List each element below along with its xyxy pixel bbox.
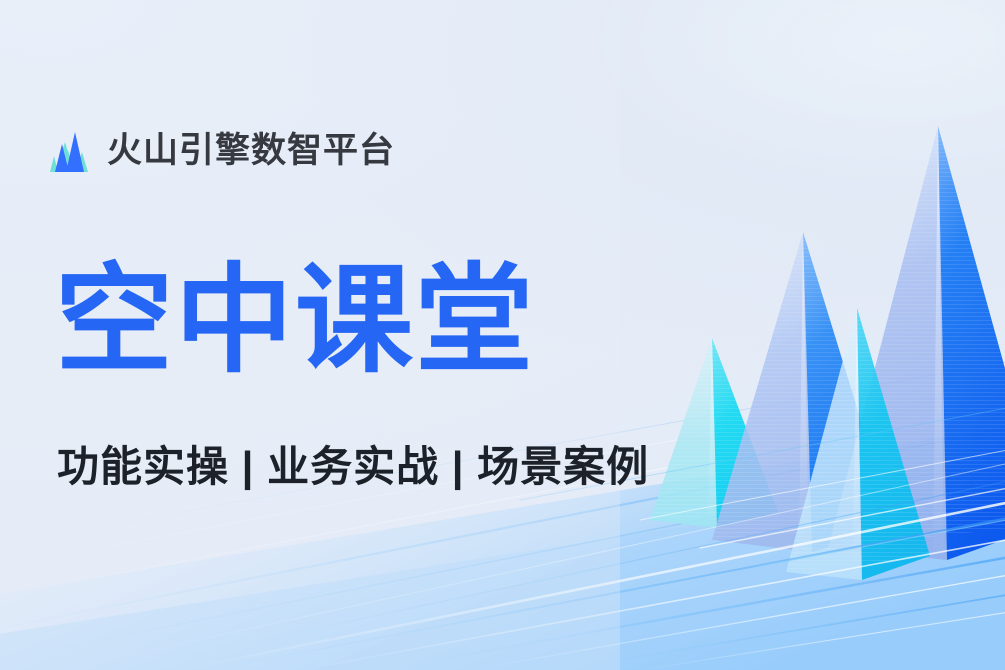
banner-canvas: 火山引擎数智平台 空中课堂 功能实操 | 业务实战 | 场景案例 <box>0 0 1005 670</box>
page-subtitle: 功能实操 | 业务实战 | 场景案例 <box>57 446 649 488</box>
volcano-mountain-logo-icon <box>44 126 94 174</box>
brand-lockup: 火山引擎数智平台 <box>44 126 395 174</box>
page-title: 空中课堂 <box>55 262 535 380</box>
brand-name: 火山引擎数智平台 <box>107 133 395 168</box>
